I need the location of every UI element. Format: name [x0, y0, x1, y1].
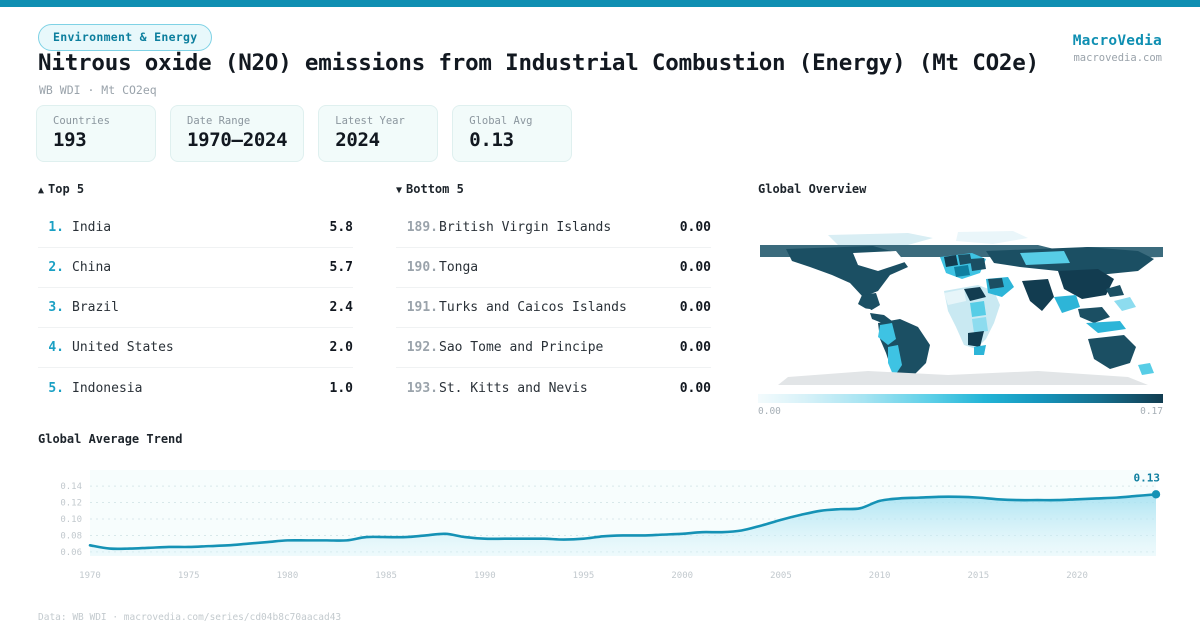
svg-text:2015: 2015: [967, 571, 989, 581]
rank-number: 2.: [38, 260, 64, 275]
stat-value: 0.13: [469, 129, 555, 151]
country-value: 0.00: [680, 381, 711, 396]
world-choropleth-map: [758, 205, 1163, 390]
legend-max-label: 0.17: [1140, 406, 1163, 417]
table-row: 191. Turks and Caicos Islands 0.00: [396, 288, 711, 328]
country-name: British Virgin Islands: [438, 220, 680, 235]
svg-text:1980: 1980: [277, 571, 299, 581]
table-row: 4. United States 2.0: [38, 328, 353, 368]
rank-number: 189.: [396, 220, 438, 235]
country-name: Sao Tome and Principe: [438, 340, 680, 355]
country-value: 0.00: [680, 220, 711, 235]
stat-cards: Countries 193 Date Range 1970–2024 Lates…: [36, 105, 572, 162]
country-value: 5.8: [330, 220, 353, 235]
svg-text:2010: 2010: [869, 571, 891, 581]
stat-label: Global Avg: [469, 115, 555, 127]
table-row: 3. Brazil 2.4: [38, 288, 353, 328]
stat-label: Latest Year: [335, 115, 421, 127]
stat-card-global-avg: Global Avg 0.13: [452, 105, 572, 162]
svg-text:1985: 1985: [375, 571, 397, 581]
map-legend-labels: 0.00 0.17: [758, 406, 1163, 417]
top-5-heading-label: Top 5: [48, 182, 84, 196]
svg-text:1975: 1975: [178, 571, 200, 581]
table-row: 193. St. Kitts and Nevis 0.00: [396, 368, 711, 408]
brand-url: macrovedia.com: [1073, 52, 1162, 64]
table-row: 1. India 5.8: [38, 208, 353, 248]
country-name: Indonesia: [64, 381, 330, 396]
country-name: Turks and Caicos Islands: [438, 300, 680, 315]
brand: MacroVedia macrovedia.com: [1073, 33, 1162, 64]
table-row: 189. British Virgin Islands 0.00: [396, 208, 711, 248]
country-value: 1.0: [330, 381, 353, 396]
rank-number: 193.: [396, 381, 438, 396]
category-badge: Environment & Energy: [38, 24, 212, 51]
svg-text:2005: 2005: [770, 571, 792, 581]
svg-text:1970: 1970: [79, 571, 101, 581]
page-subtitle: WB WDI · Mt CO2eq: [39, 83, 157, 97]
rank-number: 190.: [396, 260, 438, 275]
map-legend-gradient: [758, 394, 1163, 403]
svg-text:2000: 2000: [671, 571, 693, 581]
map-landmasses: [760, 231, 1163, 385]
footer-source: Data: WB WDI · macrovedia.com/series/cd0…: [38, 612, 341, 623]
country-value: 0.00: [680, 340, 711, 355]
country-value: 0.00: [680, 260, 711, 275]
brand-name: MacroVedia: [1073, 33, 1162, 49]
country-value: 0.00: [680, 300, 711, 315]
rank-number: 3.: [38, 300, 64, 315]
infographic-page: MacroVedia macrovedia.com Environment & …: [0, 0, 1200, 630]
stat-card-date-range: Date Range 1970–2024: [170, 105, 304, 162]
rank-number: 192.: [396, 340, 438, 355]
stat-value: 2024: [335, 129, 421, 151]
country-value: 5.7: [330, 260, 353, 275]
country-name: China: [64, 260, 330, 275]
stat-label: Countries: [53, 115, 139, 127]
svg-text:0.08: 0.08: [60, 531, 82, 541]
country-name: India: [64, 220, 330, 235]
rank-number: 5.: [38, 381, 64, 396]
country-value: 2.4: [330, 300, 353, 315]
rank-number: 4.: [38, 340, 64, 355]
trend-chart-svg: 0.060.080.100.120.1419701975198019851990…: [38, 454, 1162, 584]
stat-card-latest-year: Latest Year 2024: [318, 105, 438, 162]
country-value: 2.0: [330, 340, 353, 355]
triangle-up-icon: ▲: [38, 185, 44, 196]
page-title: Nitrous oxide (N2O) emissions from Indus…: [38, 50, 1039, 76]
svg-text:1990: 1990: [474, 571, 496, 581]
map-heading: Global Overview: [758, 182, 1163, 196]
top-5-panel: ▲Top 5 1. India 5.8 2. China 5.7 3. Braz…: [38, 182, 353, 408]
top-5-heading: ▲Top 5: [38, 182, 353, 196]
stat-value: 1970–2024: [187, 129, 287, 151]
rank-number: 191.: [396, 300, 438, 315]
legend-min-label: 0.00: [758, 406, 781, 417]
svg-text:2020: 2020: [1066, 571, 1088, 581]
country-name: St. Kitts and Nevis: [438, 381, 680, 396]
svg-text:0.06: 0.06: [60, 548, 82, 558]
stat-value: 193: [53, 129, 139, 151]
country-name: Brazil: [64, 300, 330, 315]
top-accent-bar: [0, 0, 1200, 7]
trend-chart: 0.060.080.100.120.1419701975198019851990…: [38, 454, 1162, 584]
table-row: 2. China 5.7: [38, 248, 353, 288]
table-row: 5. Indonesia 1.0: [38, 368, 353, 408]
map-svg: [758, 205, 1163, 390]
svg-text:0.10: 0.10: [60, 515, 82, 525]
stat-label: Date Range: [187, 115, 287, 127]
svg-text:0.13: 0.13: [1134, 471, 1161, 484]
country-name: Tonga: [438, 260, 680, 275]
svg-text:0.14: 0.14: [60, 482, 82, 492]
table-row: 192. Sao Tome and Principe 0.00: [396, 328, 711, 368]
svg-text:0.12: 0.12: [60, 499, 82, 509]
stat-card-countries: Countries 193: [36, 105, 156, 162]
global-overview-panel: Global Overview: [758, 182, 1163, 417]
country-name: United States: [64, 340, 330, 355]
rank-number: 1.: [38, 220, 64, 235]
bottom-5-heading: ▼Bottom 5: [396, 182, 711, 196]
svg-text:1995: 1995: [573, 571, 595, 581]
bottom-5-panel: ▼Bottom 5 189. British Virgin Islands 0.…: [396, 182, 711, 408]
table-row: 190. Tonga 0.00: [396, 248, 711, 288]
global-average-trend-panel: Global Average Trend 0.060.080.100.120.1…: [38, 432, 1162, 584]
bottom-5-heading-label: Bottom 5: [406, 182, 464, 196]
trend-heading: Global Average Trend: [38, 432, 1162, 446]
triangle-down-icon: ▼: [396, 185, 402, 196]
